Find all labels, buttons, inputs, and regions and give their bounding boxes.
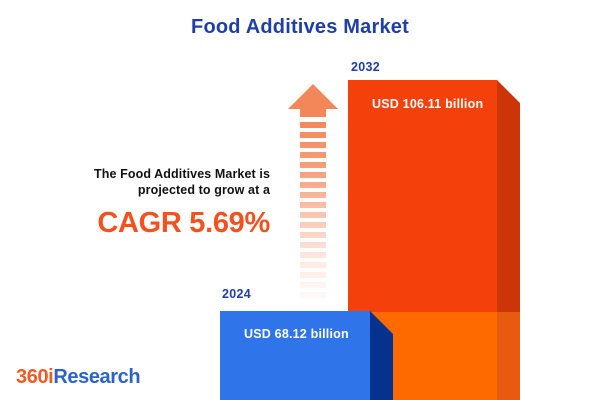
statement-line-1: The Food Additives Market is bbox=[40, 166, 270, 182]
logo-part-360i: 360i bbox=[16, 366, 53, 388]
infographic-canvas: Food Additives Market The Food Additives… bbox=[0, 0, 600, 400]
cagr-value: CAGR 5.69% bbox=[40, 207, 270, 239]
statement-line-2: projected to grow at a bbox=[40, 182, 270, 198]
bar-base-2024 bbox=[220, 311, 395, 400]
statement-block: The Food Additives Market is projected t… bbox=[40, 166, 270, 239]
logo-part-research: Research bbox=[53, 366, 140, 388]
bar-value-2024: USD 68.12 billion bbox=[244, 327, 349, 341]
bar-value-2032: USD 106.11 billion bbox=[372, 97, 483, 111]
year-label-2024: 2024 bbox=[222, 287, 251, 301]
growth-arrow-icon bbox=[286, 80, 340, 300]
year-label-2032: 2032 bbox=[351, 60, 380, 74]
brand-logo[interactable]: 360iResearch bbox=[16, 366, 140, 389]
page-title: Food Additives Market bbox=[0, 16, 600, 39]
